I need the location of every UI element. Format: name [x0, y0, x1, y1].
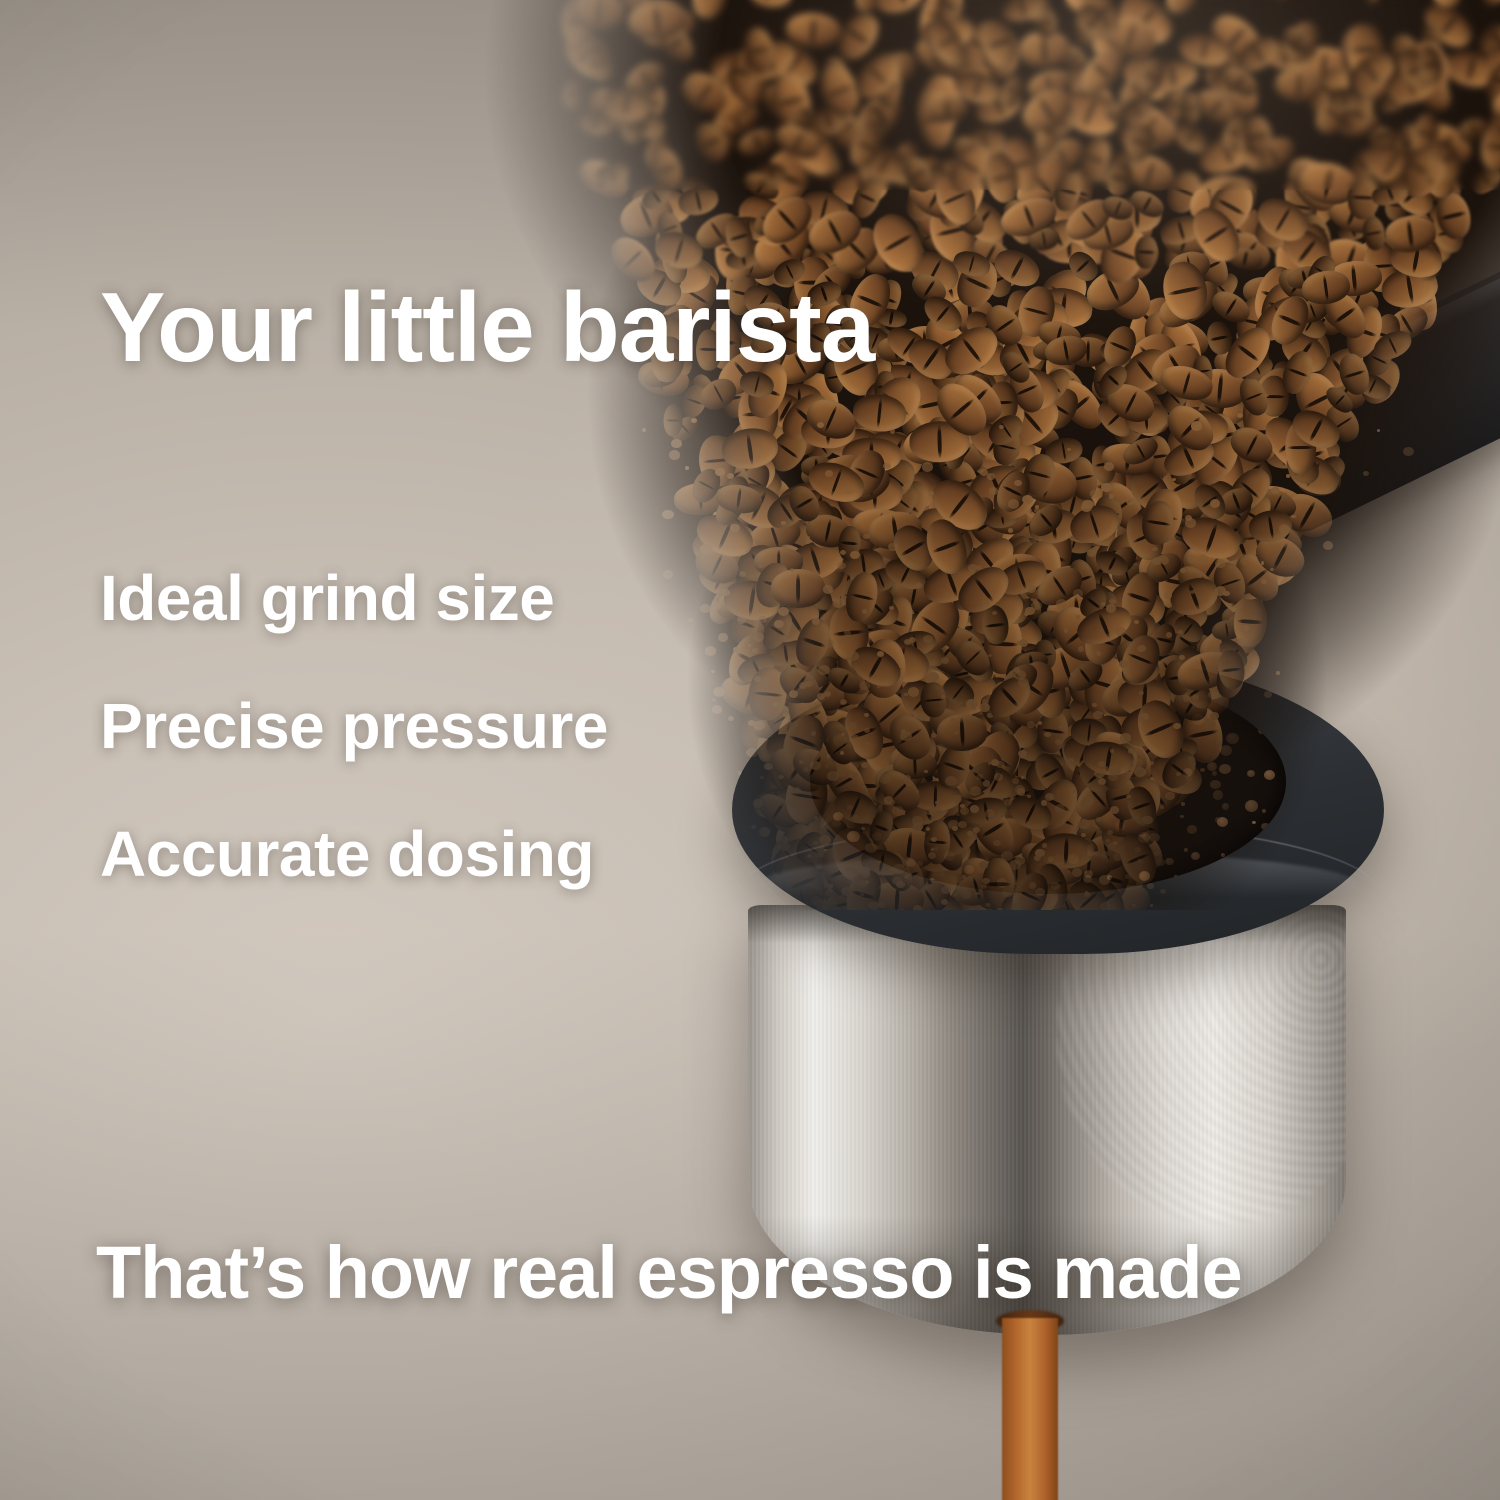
- feature-list: Ideal grind size Precise pressure Accura…: [100, 566, 608, 886]
- page-title: Your little barista: [100, 278, 874, 376]
- product-hero-banner: Your little barista Ideal grind size Pre…: [0, 0, 1500, 1500]
- feature-item-pressure: Precise pressure: [100, 694, 608, 758]
- feature-item-dosing: Accurate dosing: [100, 822, 608, 886]
- feature-item-grind-size: Ideal grind size: [100, 566, 608, 630]
- tagline: That’s how real espresso is made: [96, 1236, 1242, 1310]
